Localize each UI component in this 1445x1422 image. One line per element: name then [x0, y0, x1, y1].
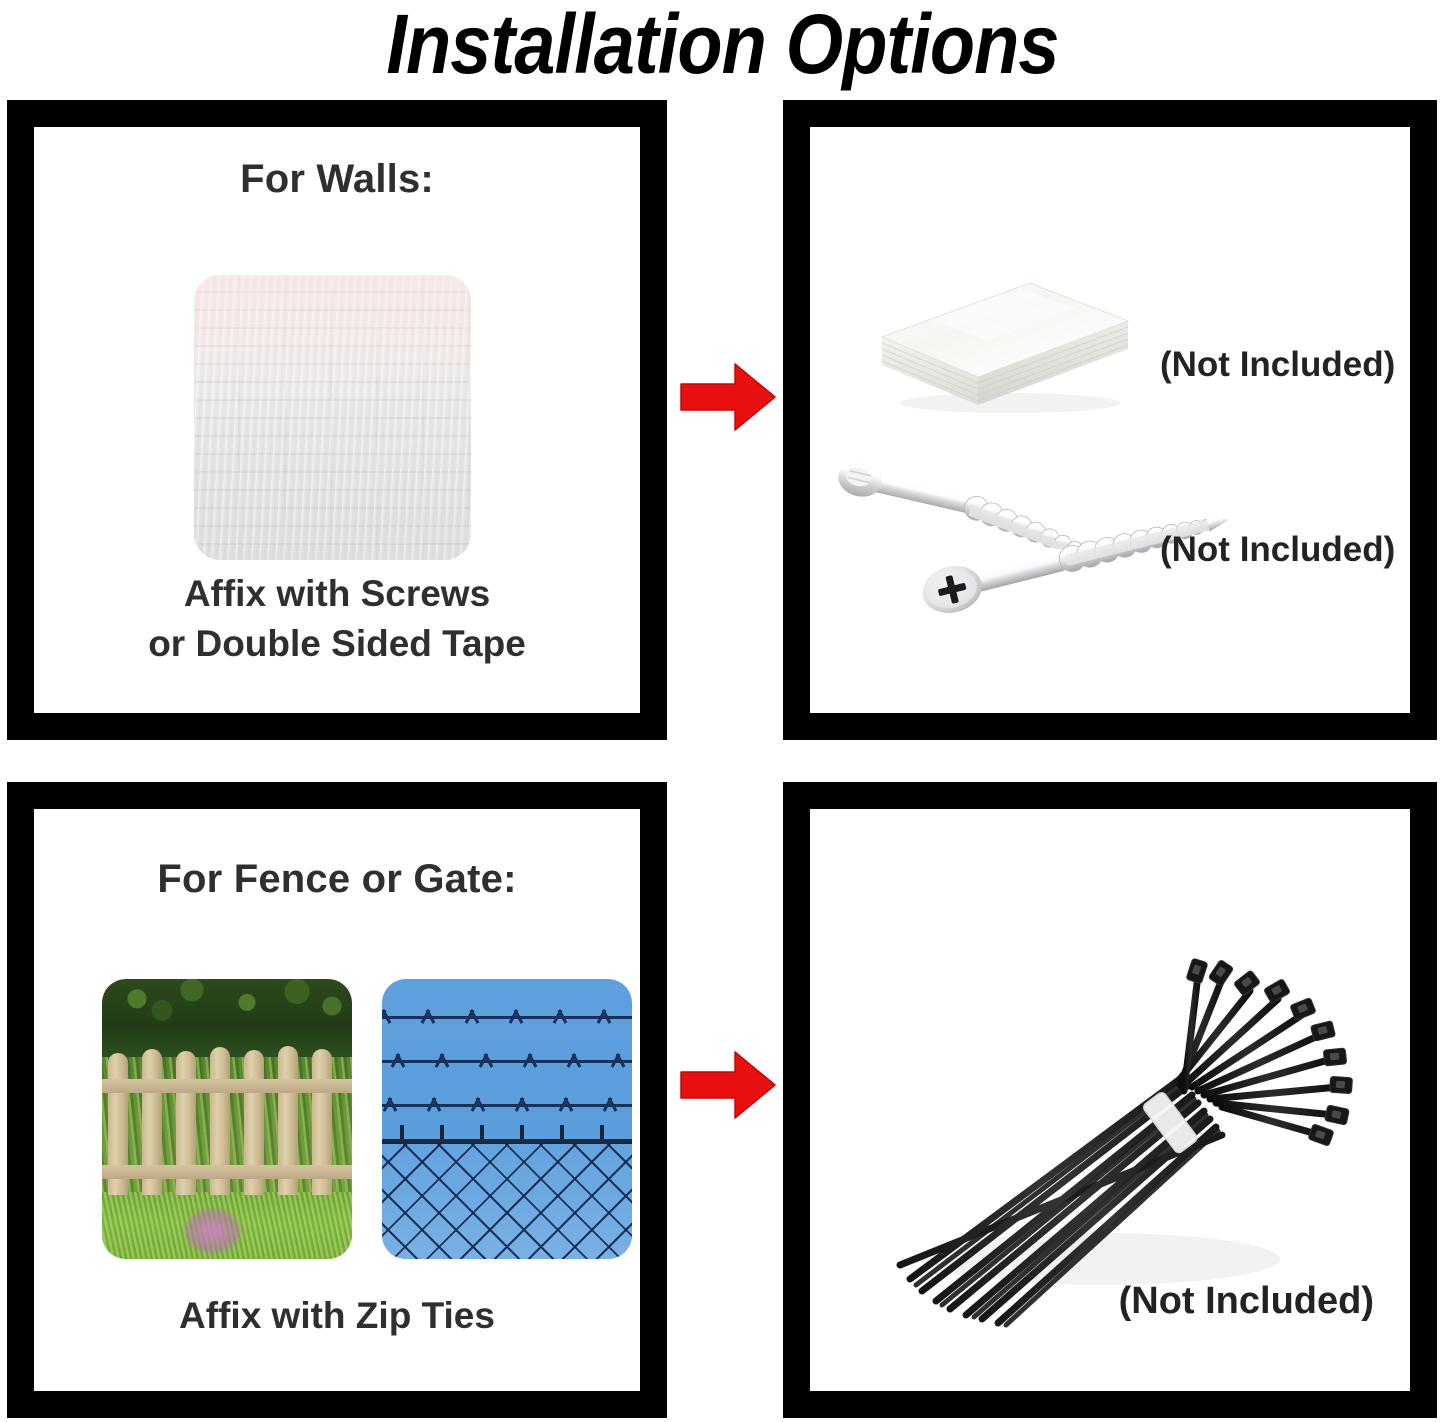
- red-right-arrow-icon: [679, 1048, 777, 1122]
- panel-wall-hardware: (Not Included): [783, 100, 1437, 740]
- panel-for-walls: For Walls: Affix with Screws or Double S…: [7, 100, 667, 740]
- zip-tie-not-included-label: (Not Included): [1119, 1280, 1374, 1323]
- page-title: Installation Options: [87, 0, 1359, 92]
- panel-for-fence-inner: For Fence or Gate:: [34, 809, 640, 1391]
- barbed-wire-strand: [382, 1013, 632, 1022]
- barbed-wire-strand: [382, 1057, 632, 1066]
- for-fence-caption: Affix with Zip Ties: [34, 1291, 640, 1341]
- screw-not-included-label: (Not Included): [1160, 530, 1395, 570]
- walls-caption-line-1: Affix with Screws: [34, 569, 640, 619]
- panel-for-fence-or-gate: For Fence or Gate:: [7, 782, 667, 1418]
- wooden-picket-fence-image: [102, 979, 352, 1259]
- panel-wall-hardware-inner: (Not Included): [810, 127, 1410, 713]
- barbed-wire-strand: [382, 1101, 632, 1110]
- chain-link-fence-image: [382, 979, 632, 1259]
- red-right-arrow-icon: [679, 360, 777, 434]
- white-brick-wall-image: [194, 275, 471, 560]
- chain-link-mesh: [382, 1144, 632, 1259]
- picket-boards-group: [102, 979, 352, 1259]
- tape-not-included-label: (Not Included): [1160, 345, 1395, 385]
- for-walls-caption: Affix with Screws or Double Sided Tape: [34, 569, 640, 669]
- walls-caption-line-2: or Double Sided Tape: [34, 619, 640, 669]
- panel-fence-hardware-inner: (Not Included): [810, 809, 1410, 1391]
- for-fence-heading: For Fence or Gate:: [34, 857, 640, 902]
- panel-for-walls-inner: For Walls: Affix with Screws or Double S…: [34, 127, 640, 713]
- panel-fence-hardware: (Not Included): [783, 782, 1437, 1418]
- for-walls-heading: For Walls:: [34, 157, 640, 202]
- warm-tint-overlay: [194, 275, 471, 383]
- double-sided-tape-stack-image: [870, 245, 1140, 420]
